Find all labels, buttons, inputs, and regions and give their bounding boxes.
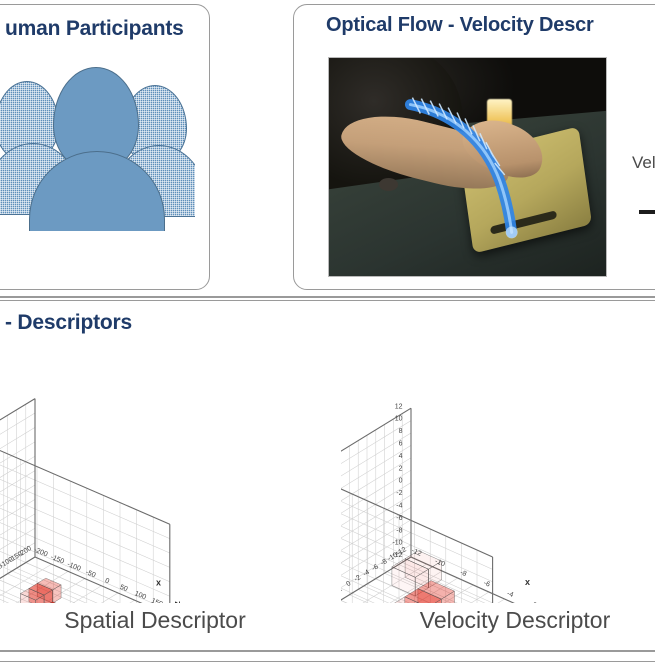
svg-text:-2: -2 <box>396 490 402 497</box>
axis-spines <box>341 408 598 603</box>
optical-flow-trajectory-overlay <box>329 58 606 276</box>
svg-text:150: 150 <box>150 597 164 603</box>
spatial-descriptor-plot: -200-150-100-500501001502002503003504001… <box>0 345 329 603</box>
velocity-rule-divider <box>639 210 655 214</box>
tick-labels: -12-10-8-6-4-2024121086420-2-4-6-8-10-12… <box>341 403 607 603</box>
svg-text:-10: -10 <box>392 540 402 547</box>
velocity-descriptor-plot: -12-10-8-6-4-2024121086420-2-4-6-8-10-12… <box>341 345 655 603</box>
svg-text:-200: -200 <box>17 545 33 558</box>
svg-text:-12: -12 <box>392 552 402 559</box>
svg-text:-6: -6 <box>396 515 402 522</box>
spatial-descriptor-svg: -200-150-100-500501001502002503003504001… <box>0 345 329 603</box>
svg-text:-6: -6 <box>482 580 490 589</box>
panel-optical-flow: Optical Flow - Velocity Descr <box>293 4 655 290</box>
panel-descriptors: - Descriptors -200-150-100-5005010015020… <box>0 300 655 662</box>
optical-flow-photo <box>328 57 607 277</box>
velocity-descriptor-svg: -12-10-8-6-4-2024121086420-2-4-6-8-10-12… <box>341 345 655 603</box>
axis-label-x: x <box>156 578 161 588</box>
axis-label-x: x <box>525 577 530 587</box>
grid-lines <box>341 408 598 603</box>
silhouette-center <box>37 67 155 231</box>
velocity-side-note: Vel <box>632 153 655 173</box>
svg-text:-4: -4 <box>396 502 402 509</box>
caption-spatial-descriptor: Spatial Descriptor <box>0 607 329 634</box>
three-person-silhouettes-icon <box>0 63 195 231</box>
svg-text:6: 6 <box>399 440 403 447</box>
panel-title-human-participants: uman Participants <box>5 17 184 41</box>
svg-text:4: 4 <box>399 453 403 460</box>
caption-velocity-descriptor: Velocity Descriptor <box>341 607 655 634</box>
panel-title-optical-flow: Optical Flow - Velocity Descr <box>326 14 594 37</box>
svg-text:-8: -8 <box>459 569 467 578</box>
svg-text:-8: -8 <box>396 527 402 534</box>
svg-text:12: 12 <box>395 403 403 410</box>
svg-text:10: 10 <box>395 416 403 423</box>
separator-rule-top <box>0 296 655 298</box>
axis-spines <box>0 399 234 603</box>
svg-text:0: 0 <box>399 478 403 485</box>
svg-text:2: 2 <box>399 465 403 472</box>
panel-title-descriptors: - Descriptors <box>5 311 132 335</box>
svg-text:-4: -4 <box>506 590 514 599</box>
separator-rule-bottom <box>0 650 655 652</box>
panel-human-participants: uman Participants <box>0 4 210 290</box>
svg-text:8: 8 <box>399 428 403 435</box>
axis-label-z: z <box>172 601 182 603</box>
svg-text:-2: -2 <box>529 601 537 603</box>
